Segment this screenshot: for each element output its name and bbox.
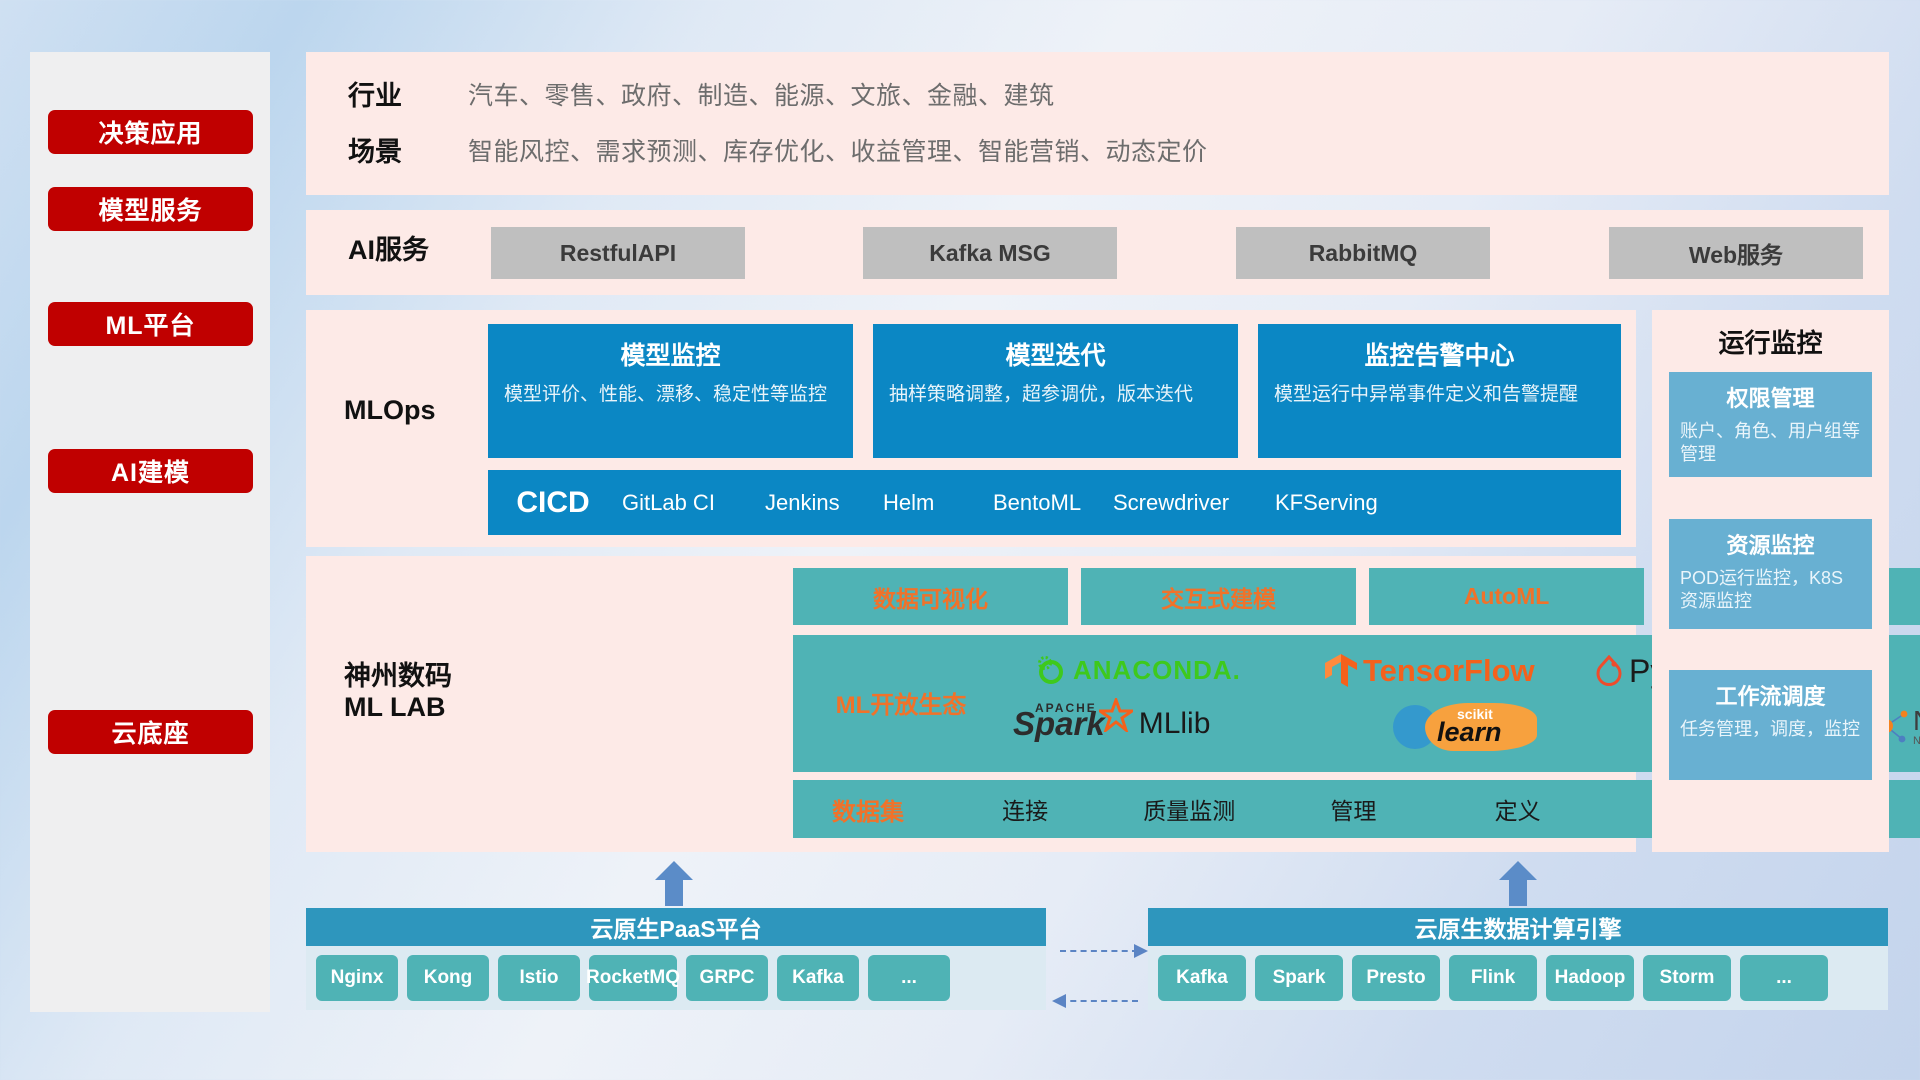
scenario-row: 场景 智能风控、需求预测、库存优化、收益管理、智能营销、动态定价	[348, 130, 1208, 169]
ml-lab-label: 神州数码 ML LAB	[344, 661, 452, 724]
cicd-item-jenkins[interactable]: Jenkins	[761, 490, 879, 515]
sidebar-item-model-service[interactable]: 模型服务	[48, 187, 253, 231]
apache-wordmark: APACHE	[1035, 701, 1097, 715]
service-chip-web-service[interactable]: Web服务	[1609, 227, 1863, 279]
industry-row: 行业 汽车、零售、政府、制造、能源、文旅、金融、建筑	[348, 74, 1055, 113]
paas-chip-istio[interactable]: Istio	[498, 955, 580, 1001]
card-desc: 模型评价、性能、漂移、稳定性等监控	[504, 382, 837, 407]
pytorch-icon	[1595, 655, 1623, 689]
compute-title-bar: 云原生数据计算引擎	[1148, 908, 1888, 946]
paas-up-arrow-icon	[652, 860, 696, 906]
networkx-wordmark: NetworkX	[1913, 707, 1920, 735]
monitoring-title: 运行监控	[1652, 310, 1889, 360]
card-desc: 账户、角色、用户组等管理	[1680, 420, 1861, 467]
card-title: 资源监控	[1680, 528, 1861, 560]
paas-title-bar: 云原生PaaS平台	[306, 908, 1046, 946]
ai-service-label: AI服务	[348, 235, 429, 266]
sidebar-item-ai-modeling[interactable]: AI建模	[48, 449, 253, 493]
service-chip-restfulapi[interactable]: RestfulAPI	[491, 227, 745, 279]
card-title: 监控告警中心	[1274, 336, 1605, 372]
scenario-value: 智能风控、需求预测、库存优化、收益管理、智能营销、动态定价	[468, 132, 1208, 168]
scenario-label: 场景	[348, 130, 468, 169]
monitoring-card-resource[interactable]: 资源监控 POD运行监控，K8S资源监控	[1669, 519, 1872, 629]
monitoring-column: 运行监控 权限管理 账户、角色、用户组等管理 资源监控 POD运行监控，K8S资…	[1652, 310, 1889, 852]
dataset-item-define[interactable]: 定义	[1436, 792, 1600, 826]
monitoring-card-workflow[interactable]: 工作流调度 任务管理，调度，监控	[1669, 670, 1872, 780]
tensorflow-wordmark: TensorFlow	[1363, 653, 1535, 689]
dataset-item-quality[interactable]: 质量监测	[1107, 792, 1271, 826]
sidebar-item-ml-platform[interactable]: ML平台	[48, 302, 253, 346]
compute-up-arrow-icon	[1496, 860, 1540, 906]
dataset-label: 数据集	[793, 792, 943, 827]
industry-value: 汽车、零售、政府、制造、能源、文旅、金融、建筑	[468, 76, 1055, 112]
spark-mllib-logo: APACHE Spark MLlib	[1013, 705, 1210, 743]
compute-chip-kafka[interactable]: Kafka	[1158, 955, 1246, 1001]
mod-tab-interactive-modeling[interactable]: 交互式建模	[1081, 568, 1356, 625]
connector-arrow-right-icon	[1132, 942, 1150, 960]
anaconda-wordmark: ANACONDA.	[1073, 655, 1241, 686]
mod-tab-automl[interactable]: AutoML	[1369, 568, 1644, 625]
cicd-item-screwdriver[interactable]: Screwdriver	[1109, 490, 1271, 515]
mlops-card-alert-center[interactable]: 监控告警中心 模型运行中异常事件定义和告警提醒	[1258, 324, 1621, 458]
compute-chip-storm[interactable]: Storm	[1643, 955, 1731, 1001]
connector-dashed-left	[1060, 1000, 1138, 1002]
anaconda-logo: ANACONDA.	[1036, 655, 1241, 686]
connector-dashed-right	[1060, 950, 1138, 952]
spark-star-icon	[1099, 698, 1133, 732]
paas-chip-nginx[interactable]: Nginx	[316, 955, 398, 1001]
scikit-orange-blob: scikit learn	[1425, 703, 1537, 751]
card-title: 模型监控	[504, 336, 837, 372]
compute-chip-flink[interactable]: Flink	[1449, 955, 1537, 1001]
cicd-bar: CICD GitLab CI Jenkins Helm BentoML Scre…	[488, 470, 1621, 535]
tensorflow-icon	[1324, 653, 1358, 689]
mlops-card-model-monitoring[interactable]: 模型监控 模型评价、性能、漂移、稳定性等监控	[488, 324, 853, 458]
card-desc: 模型运行中异常事件定义和告警提醒	[1274, 382, 1605, 407]
dataset-item-connect[interactable]: 连接	[943, 792, 1107, 826]
paas-group: 云原生PaaS平台 Nginx Kong Istio RocketMQ GRPC…	[306, 860, 1046, 1010]
ecosystem-label: ML开放生态	[811, 685, 991, 720]
mlops-card-model-iteration[interactable]: 模型迭代 抽样策略调整，超参调优，版本迭代	[873, 324, 1238, 458]
card-title: 权限管理	[1680, 381, 1861, 413]
compute-chip-hadoop[interactable]: Hadoop	[1546, 955, 1634, 1001]
mlops-label: MLOps	[344, 395, 436, 426]
industry-label: 行业	[348, 74, 468, 113]
compute-chip-more[interactable]: ...	[1740, 955, 1828, 1001]
cicd-item-bentoml[interactable]: BentoML	[989, 490, 1109, 515]
cicd-item-helm[interactable]: Helm	[879, 490, 989, 515]
paas-chip-rocketmq[interactable]: RocketMQ	[589, 955, 677, 1001]
mlops-layer-band: MLOps 模型监控 模型评价、性能、漂移、稳定性等监控 模型迭代 抽样策略调整…	[306, 310, 1636, 547]
compute-chip-tray: Kafka Spark Presto Flink Hadoop Storm ..…	[1148, 946, 1888, 1010]
ai-service-layer-band: AI服务 RestfulAPI Kafka MSG RabbitMQ Web服务	[306, 210, 1889, 295]
layer-rail: 决策应用 模型服务 ML平台 AI建模 云底座	[30, 52, 270, 1012]
paas-chip-kafka[interactable]: Kafka	[777, 955, 859, 1001]
paas-chip-more[interactable]: ...	[868, 955, 950, 1001]
dataset-item-manage[interactable]: 管理	[1271, 792, 1435, 826]
sidebar-item-decision-app[interactable]: 决策应用	[48, 110, 253, 154]
monitoring-card-permission[interactable]: 权限管理 账户、角色、用户组等管理	[1669, 372, 1872, 477]
tensorflow-logo: TensorFlow	[1324, 653, 1535, 689]
architecture-diagram: 决策应用 模型服务 ML平台 AI建模 云底座 行业 汽车、零售、政府、制造、能…	[0, 0, 1920, 1080]
cicd-title: CICD	[488, 486, 618, 520]
connector-arrow-left-icon	[1050, 992, 1068, 1010]
paas-chip-kong[interactable]: Kong	[407, 955, 489, 1001]
mllib-wordmark: MLlib	[1139, 707, 1211, 741]
card-title: 工作流调度	[1680, 679, 1861, 711]
compute-chip-presto[interactable]: Presto	[1352, 955, 1440, 1001]
scikit-learn-logo: scikit learn	[1393, 703, 1537, 751]
mod-tab-data-visualization[interactable]: 数据可视化	[793, 568, 1068, 625]
anaconda-icon	[1036, 656, 1066, 686]
card-title: 模型迭代	[889, 336, 1222, 372]
sidebar-item-cloud-base[interactable]: 云底座	[48, 710, 253, 754]
cicd-item-kfserving[interactable]: KFServing	[1271, 490, 1421, 515]
networkx-tagline: Network Analysis in Python	[1913, 735, 1920, 747]
service-chip-kafka-msg[interactable]: Kafka MSG	[863, 227, 1117, 279]
paas-chip-grpc[interactable]: GRPC	[686, 955, 768, 1001]
service-chip-rabbitmq[interactable]: RabbitMQ	[1236, 227, 1490, 279]
paas-chip-tray: Nginx Kong Istio RocketMQ GRPC Kafka ...	[306, 946, 1046, 1010]
compute-engine-group: 云原生数据计算引擎 Kafka Spark Presto Flink Hadoo…	[1148, 860, 1888, 1010]
application-layer-band: 行业 汽车、零售、政府、制造、能源、文旅、金融、建筑 场景 智能风控、需求预测、…	[306, 52, 1889, 195]
learn-wordmark: learn	[1437, 717, 1502, 748]
card-desc: 任务管理，调度，监控	[1680, 718, 1861, 741]
cicd-item-gitlab-ci[interactable]: GitLab CI	[618, 490, 761, 515]
card-desc: 抽样策略调整，超参调优，版本迭代	[889, 382, 1222, 407]
card-desc: POD运行监控，K8S资源监控	[1680, 567, 1861, 614]
compute-chip-spark[interactable]: Spark	[1255, 955, 1343, 1001]
modeling-layer-band: 神州数码 ML LAB 数据可视化 交互式建模 AutoML JupyterLa…	[306, 556, 1636, 852]
